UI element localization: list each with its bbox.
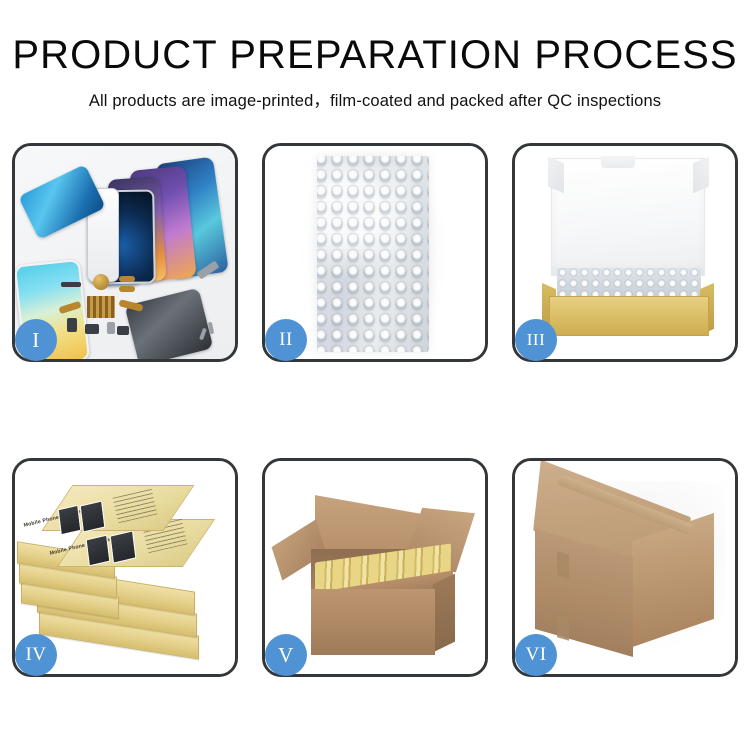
step-3-numeral-badge: III: [515, 319, 557, 361]
process-step-1: I: [12, 143, 238, 362]
step-1-numeral-badge: I: [15, 319, 57, 361]
mailer-box-lid-fold-left: [548, 157, 564, 193]
part-vibrator: [85, 324, 99, 334]
page-subtitle: All products are image-printed，film-coat…: [0, 76, 750, 111]
retail-box-window-b1: [86, 535, 111, 567]
process-step-3: III: [512, 143, 738, 362]
step-4-numeral-badge: IV: [15, 634, 57, 676]
page-header: PRODUCT PREPARATION PROCESS All products…: [0, 0, 750, 111]
bubble-pattern: [317, 156, 429, 352]
process-step-5: V: [262, 458, 488, 677]
carton-front: [311, 589, 435, 655]
retail-box-window-a1: [58, 505, 82, 536]
mailer-box-lid-tab: [601, 156, 635, 168]
process-step-6: VI: [512, 458, 738, 677]
part-ic-chip: [87, 296, 115, 318]
part-connector: [117, 326, 129, 335]
carton-tape-front-lower: [557, 615, 569, 640]
step-6-numeral-badge: VI: [515, 634, 557, 676]
retail-box-window-b2: [110, 530, 137, 563]
step-2-numeral-badge: II: [265, 319, 307, 361]
process-step-grid: I II III: [12, 143, 738, 677]
carton-side-right: [433, 574, 455, 653]
page-title: PRODUCT PREPARATION PROCESS: [0, 0, 750, 76]
bubble-wrap-pouch: [317, 156, 429, 352]
mailer-box-lid: [551, 158, 705, 276]
part-speaker-ring: [93, 274, 109, 290]
carton-tape-front-upper: [557, 551, 569, 578]
part-button-metal: [107, 322, 115, 334]
process-step-4: Mobile Phone Spare Parts Mobile Phone Sp…: [12, 458, 238, 677]
part-camera-module: [67, 318, 77, 332]
mailer-box-front: [549, 296, 709, 336]
step-5-numeral-badge: V: [265, 634, 307, 676]
retail-box-window-a2: [80, 500, 106, 532]
part-flex-cable-a: [119, 276, 135, 282]
part-flex-cable-b: [119, 286, 135, 292]
process-step-2: II: [262, 143, 488, 362]
part-earpiece: [61, 282, 81, 287]
